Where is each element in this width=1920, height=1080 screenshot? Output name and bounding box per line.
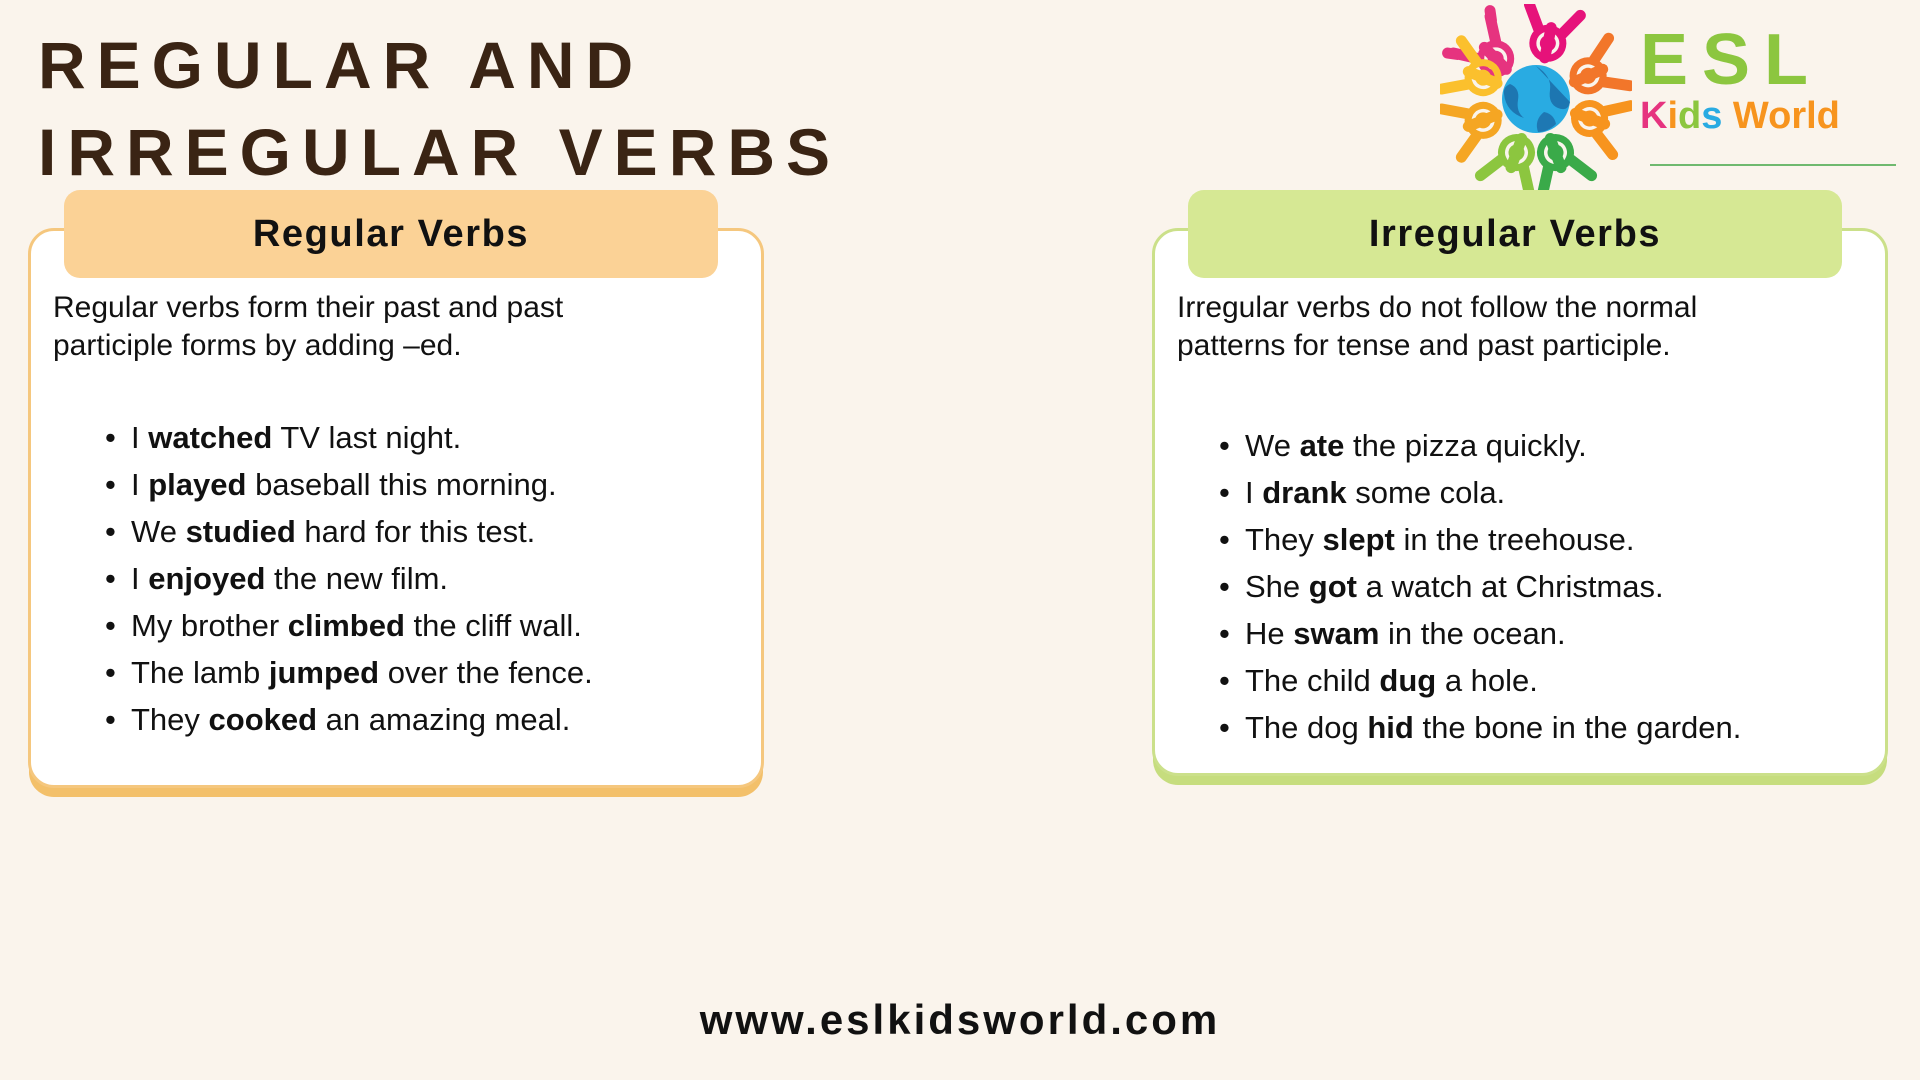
list-item: I played baseball this morning. [105, 461, 731, 508]
list-item: They cooked an amazing meal. [105, 696, 731, 743]
sentence-prefix: They [1245, 522, 1323, 557]
irregular-verbs-content: Irregular verbs do not follow the normal… [1155, 231, 1885, 773]
logo-tagline-world: World [1722, 95, 1840, 137]
list-item: He swam in the ocean. [1219, 610, 1855, 657]
sentence-suffix: the cliff wall. [405, 608, 582, 643]
sentence-suffix: hard for this test. [296, 514, 536, 549]
list-item: The lamb jumped over the fence. [105, 649, 731, 696]
list-item: I watched TV last night. [105, 414, 731, 461]
sentence-suffix: baseball this morning. [246, 467, 556, 502]
list-item: She got a watch at Christmas. [1219, 563, 1855, 610]
page-title: REGULAR AND IRREGULAR VERBS [38, 22, 1158, 196]
regular-verbs-card: Regular verbs form their past and past p… [28, 228, 764, 788]
irregular-verbs-list: We ate the pizza quickly.I drank some co… [1177, 422, 1855, 752]
list-item: I drank some cola. [1219, 469, 1855, 516]
sentence-prefix: She [1245, 569, 1309, 604]
regular-verbs-header-label: Regular Verbs [253, 213, 529, 256]
sentence-prefix: I [131, 467, 148, 502]
sentence-prefix: They [131, 702, 209, 737]
sentence-prefix: My brother [131, 608, 288, 643]
verb-highlight: played [148, 467, 246, 502]
sentence-suffix: some cola. [1347, 475, 1506, 510]
sentence-prefix: He [1245, 616, 1293, 651]
sentence-suffix: the bone in the garden. [1414, 710, 1741, 745]
list-item: We ate the pizza quickly. [1219, 422, 1855, 469]
verb-highlight: hid [1367, 710, 1414, 745]
sentence-suffix: the new film. [265, 561, 448, 596]
irregular-verbs-intro: Irregular verbs do not follow the normal… [1177, 289, 1855, 366]
verb-highlight: watched [148, 420, 272, 455]
sentence-suffix: a watch at Christmas. [1357, 569, 1664, 604]
logo-underline [1650, 164, 1896, 166]
list-item: We studied hard for this test. [105, 508, 731, 555]
list-item: My brother climbed the cliff wall. [105, 602, 731, 649]
sentence-prefix: The child [1245, 663, 1379, 698]
list-item: I enjoyed the new film. [105, 555, 731, 602]
logo-tagline-d: d [1678, 95, 1701, 137]
regular-intro-line-2: participle forms by adding –ed. [53, 327, 731, 365]
regular-intro-line-1: Regular verbs form their past and past [53, 289, 731, 327]
regular-verbs-content: Regular verbs form their past and past p… [31, 231, 761, 785]
sentence-suffix: over the fence. [379, 655, 593, 690]
verb-highlight: studied [186, 514, 296, 549]
list-item: They slept in the treehouse. [1219, 516, 1855, 563]
verb-highlight: got [1309, 569, 1357, 604]
irregular-verbs-header-label: Irregular Verbs [1369, 213, 1661, 256]
verb-highlight: jumped [269, 655, 379, 690]
sentence-prefix: I [1245, 475, 1262, 510]
website-url[interactable]: www.eslkidsworld.com [0, 996, 1920, 1044]
verb-highlight: climbed [288, 608, 405, 643]
logo-wordmark: ESL Kids World [1640, 26, 1900, 137]
sentence-prefix: The dog [1245, 710, 1367, 745]
children-around-globe-icon [1440, 4, 1632, 194]
sentence-suffix: in the ocean. [1379, 616, 1565, 651]
list-item: The child dug a hole. [1219, 657, 1855, 704]
irregular-verbs-card: Irregular verbs do not follow the normal… [1152, 228, 1888, 776]
verb-highlight: dug [1379, 663, 1436, 698]
irregular-intro-line-1: Irregular verbs do not follow the normal [1177, 289, 1855, 327]
logo-tagline: Kids World [1640, 97, 1900, 137]
verb-highlight: slept [1323, 522, 1395, 557]
sentence-suffix: in the treehouse. [1395, 522, 1635, 557]
verb-highlight: swam [1293, 616, 1379, 651]
sentence-prefix: The lamb [131, 655, 269, 690]
sentence-prefix: We [1245, 428, 1300, 463]
verb-highlight: ate [1300, 428, 1345, 463]
regular-verbs-header: Regular Verbs [64, 190, 718, 278]
sentence-prefix: I [131, 420, 148, 455]
sentence-prefix: I [131, 561, 148, 596]
infographic-page: REGULAR AND IRREGULAR VERBS [0, 0, 1920, 1080]
verb-highlight: enjoyed [148, 561, 265, 596]
sentence-suffix: TV last night. [272, 420, 461, 455]
sentence-suffix: the pizza quickly. [1344, 428, 1586, 463]
regular-verbs-intro: Regular verbs form their past and past p… [53, 289, 731, 366]
verb-highlight: drank [1262, 475, 1346, 510]
title-line-1: REGULAR AND [38, 22, 1158, 109]
regular-verbs-list: I watched TV last night.I played basebal… [53, 414, 731, 744]
verb-highlight: cooked [209, 702, 318, 737]
irregular-verbs-header: Irregular Verbs [1188, 190, 1842, 278]
sentence-prefix: We [131, 514, 186, 549]
sentence-suffix: an amazing meal. [317, 702, 570, 737]
logo-tagline-s: s [1701, 95, 1722, 137]
title-line-2: IRREGULAR VERBS [38, 109, 1158, 196]
sentence-suffix: a hole. [1436, 663, 1538, 698]
irregular-intro-line-2: patterns for tense and past participle. [1177, 327, 1855, 365]
logo-tagline-i: i [1667, 95, 1678, 137]
list-item: The dog hid the bone in the garden. [1219, 704, 1855, 751]
esl-kids-world-logo: ESL Kids World [1440, 4, 1900, 194]
logo-brand: ESL [1640, 26, 1900, 95]
logo-tagline-k: K [1640, 95, 1667, 137]
